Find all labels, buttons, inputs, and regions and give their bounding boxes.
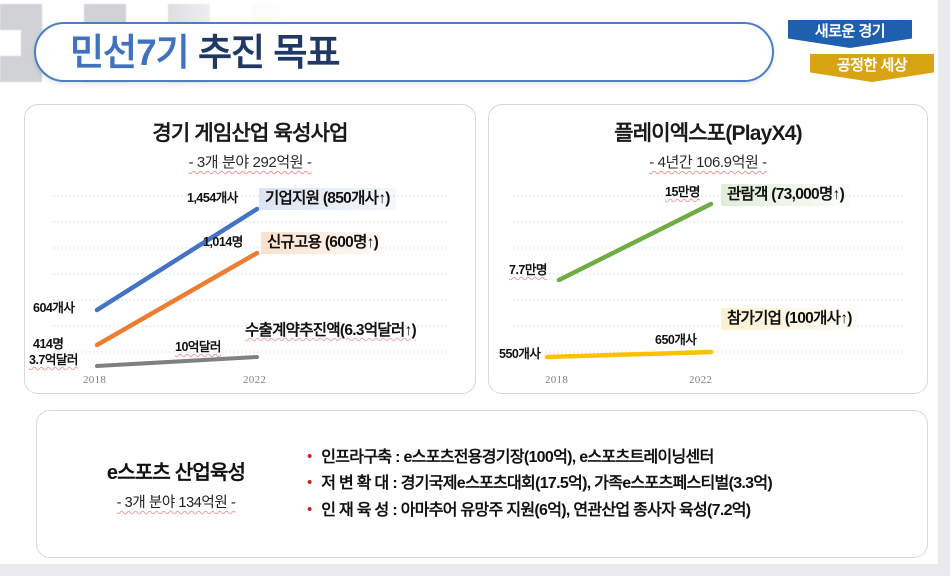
- series-label-참가기업: 참가기업 (100개사↑): [721, 308, 858, 330]
- datapoint-start-참가기업: 550개사: [499, 348, 540, 361]
- datapoint-end-기업지원: 1,454개사: [187, 192, 238, 205]
- series-label-기업지원: 기업지원 (850개사↑): [259, 188, 396, 210]
- axis-tick-end: 2022: [689, 374, 712, 386]
- esports-title: e스포츠 산업육성: [51, 456, 301, 485]
- esports-bullet-list: • 인프라구축 : e스포츠전용경기장(100억), e스포츠트레이닝센터 • …: [301, 440, 913, 529]
- axis-tick-start: 2018: [545, 374, 568, 386]
- datapoint-start-기업지원: 604개사: [33, 302, 74, 315]
- page-title-secondary: 추진 목표: [189, 34, 340, 71]
- axis-tick-start: 2018: [83, 374, 106, 386]
- series-line-참가기업: [547, 352, 711, 357]
- esports-heading-block: e스포츠 산업육성 - 3개 분야 134억원 -: [51, 456, 301, 512]
- datapoint-start-관람객: 7.7만명: [509, 264, 547, 277]
- datapoint-end-수출계약추진액: 10억달러: [175, 341, 221, 354]
- bullet-dot-icon: •: [307, 449, 312, 464]
- series-label-신규고용: 신규고용 (600명↑): [261, 232, 384, 254]
- list-item: • 인 재 육 성 : 아마추어 유망주 지원(6억), 연관산업 종사자 육성…: [307, 502, 913, 520]
- esports-bullet-text: 인 재 육 성 : 아마추어 유망주 지원(6억), 연관산업 종사자 육성(7…: [321, 502, 750, 520]
- series-label-수출계약추진액: 수출계약추진액(6.3억달러↑): [239, 320, 422, 342]
- panel-expo-title: 플레이엑스포(PlayX4): [489, 117, 927, 147]
- panel-game-subtitle: - 3개 분야 292억원 -: [25, 151, 475, 172]
- datapoint-end-관람객: 15만명: [665, 186, 700, 199]
- bottom-edge-strip: [0, 564, 950, 576]
- logo-band-bottom: 공정한 세상: [810, 54, 934, 82]
- panel-playx4: 플레이엑스포(PlayX4) - 4년간 106.9억원 - 7.7만명 15만…: [488, 104, 928, 394]
- panel-game-title: 경기 게임산업 육성사업: [25, 117, 475, 147]
- esports-bullet-text: 인프라구축 : e스포츠전용경기장(100억), e스포츠트레이닝센터: [321, 449, 713, 467]
- gyeonggi-logo: 새로운 경기 공정한 세상: [784, 18, 934, 90]
- slide-canvas: 민선7기 추진 목표 새로운 경기 공정한 세상 경기 게임산업 육성사업 - …: [0, 0, 950, 576]
- series-line-기업지원: [97, 209, 257, 310]
- bullet-dot-icon: •: [307, 475, 312, 490]
- series-line-관람객: [559, 204, 711, 280]
- series-label-관람객: 관람객 (73,000명↑): [721, 184, 850, 206]
- datapoint-end-참가기업: 650개사: [655, 334, 696, 347]
- datapoint-end-신규고용: 1,014명: [203, 236, 243, 249]
- panel-esports: e스포츠 산업육성 - 3개 분야 134억원 - • 인프라구축 : e스포츠…: [36, 410, 928, 558]
- chart-game-industry: 604개사 1,454개사 기업지원 (850개사↑) 414명 1,014명 …: [35, 182, 465, 387]
- page-title-primary: 민선7기: [70, 34, 189, 71]
- axis-tick-end: 2022: [243, 374, 266, 386]
- right-edge-strip: [938, 0, 950, 576]
- series-line-수출계약추진액: [97, 357, 257, 366]
- esports-subtitle: - 3개 분야 134억원 -: [51, 491, 301, 512]
- list-item: • 저 변 확 대 : 경기국제e스포츠대회(17.5억), 가족e스포츠페스티…: [307, 475, 913, 493]
- page-title: 민선7기 추진 목표: [34, 22, 774, 82]
- datapoint-start-수출계약추진액: 3.7억달러: [29, 354, 78, 367]
- datapoint-start-신규고용: 414명: [33, 338, 63, 351]
- panel-game-industry: 경기 게임산업 육성사업 - 3개 분야 292억원 - 604개사 1,454…: [24, 104, 476, 394]
- panel-expo-subtitle: - 4년간 106.9억원 -: [489, 151, 927, 172]
- chart-game-svg: [35, 182, 467, 387]
- logo-band-top: 새로운 경기: [788, 20, 912, 48]
- list-item: • 인프라구축 : e스포츠전용경기장(100억), e스포츠트레이닝센터: [307, 449, 913, 467]
- bullet-dot-icon: •: [307, 502, 312, 517]
- series-line-신규고용: [97, 253, 257, 345]
- chart-playx4: 7.7만명 15만명 관람객 (73,000명↑) 550개사 650개사 참가…: [499, 182, 917, 387]
- esports-bullet-text: 저 변 확 대 : 경기국제e스포츠대회(17.5억), 가족e스포츠페스티벌(…: [321, 475, 772, 493]
- chart-expo-svg: [499, 182, 919, 387]
